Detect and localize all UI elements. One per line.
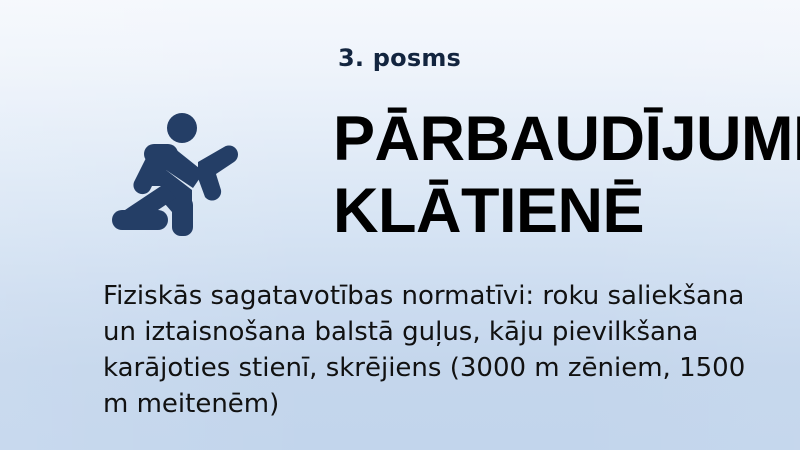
- page-title: PĀRBAUDĪJUMI KLĀTIENĒ: [333, 103, 800, 247]
- body-line-3: karājoties stienī, skrējiens (3000 m zēn…: [103, 350, 728, 386]
- title-line-2: KLĀTIENĒ: [333, 175, 800, 247]
- running-person-icon: [100, 100, 250, 245]
- body-line-4: m meitenēm): [103, 386, 728, 422]
- body-line-2: un iztaisnošana balstā guļus, kāju pievi…: [103, 314, 728, 350]
- slide-body-text: Fiziskās sagatavotības normatīvi: roku s…: [103, 278, 728, 422]
- slide-canvas: 3. posms: [0, 0, 800, 450]
- title-line-1: PĀRBAUDĪJUMI: [333, 103, 800, 175]
- slide-kicker: 3. posms: [338, 44, 461, 72]
- body-line-1: Fiziskās sagatavotības normatīvi: roku s…: [103, 278, 728, 314]
